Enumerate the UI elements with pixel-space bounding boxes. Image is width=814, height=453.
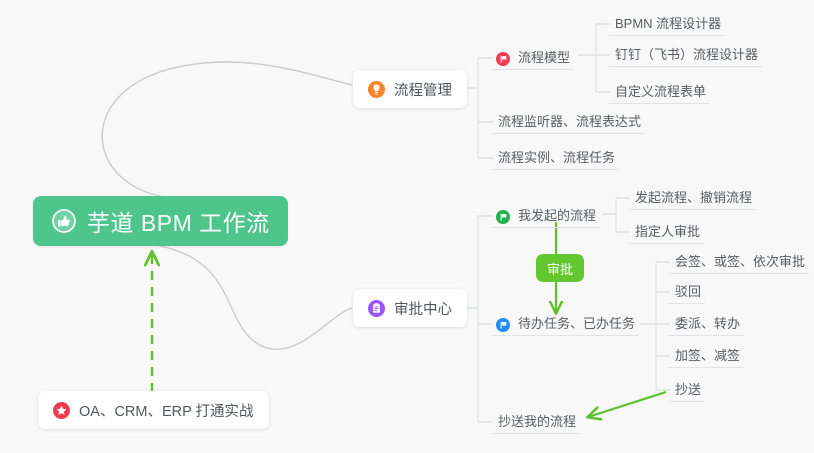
- leaf-label-todo-done-task: 待办任务、已办任务: [518, 313, 635, 332]
- leaf-node-countersign-orsign-sequential[interactable]: 会签、或签、依次审批: [669, 246, 809, 274]
- leaf-node-bpmn-designer[interactable]: BPMN 流程设计器: [609, 8, 725, 36]
- leaf-node-listener-expression[interactable]: 流程监听器、流程表达式: [492, 106, 645, 134]
- root-node-label: 芋道 BPM 工作流: [87, 204, 270, 238]
- footnote-node[interactable]: OA、CRM、ERP 打通实战: [38, 391, 269, 429]
- leaf-label-countersign-orsign-sequential: 会签、或签、依次审批: [675, 251, 805, 270]
- annotation-chip-approval[interactable]: 审批: [536, 254, 584, 282]
- clipboard-circle-icon: [368, 300, 385, 317]
- leaf-node-carbon-copy[interactable]: 抄送: [669, 374, 705, 402]
- leaf-label-add-remove-sign: 加签、减签: [675, 345, 740, 364]
- leaf-label-listener-expression: 流程监听器、流程表达式: [498, 111, 641, 130]
- root-node[interactable]: 芋道 BPM 工作流: [33, 196, 288, 246]
- leaf-label-cc-to-me-process: 抄送我的流程: [498, 411, 576, 430]
- leaf-node-delegate-transfer[interactable]: 委派、转办: [669, 308, 744, 336]
- leaf-node-reject[interactable]: 驳回: [669, 276, 705, 304]
- leaf-node-instance-task[interactable]: 流程实例、流程任务: [492, 142, 619, 170]
- leaf-label-process-model: 流程模型: [518, 47, 570, 66]
- wires-process-management-children: [462, 58, 494, 158]
- branch-node-process-management[interactable]: 流程管理: [353, 70, 467, 108]
- wires-todo-done-task-children: [640, 262, 670, 390]
- leaf-label-custom-process-form: 自定义流程表单: [615, 81, 706, 100]
- leaf-node-dingtalk-feishu-designer[interactable]: 钉钉（飞书）流程设计器: [609, 39, 762, 67]
- leaf-node-cc-to-me-process[interactable]: 抄送我的流程: [492, 406, 580, 434]
- wire-root-to-approval-center: [160, 246, 352, 349]
- leaf-label-bpmn-designer: BPMN 流程设计器: [615, 13, 721, 32]
- flag-circle-icon: [496, 210, 510, 224]
- leaf-node-assignee-approval[interactable]: 指定人审批: [629, 216, 704, 244]
- flag-circle-icon: [496, 52, 510, 66]
- branch-label-approval-center: 审批中心: [394, 298, 452, 319]
- leaf-label-my-started-process: 我发起的流程: [518, 205, 596, 224]
- lightbulb-circle-icon: [368, 81, 385, 98]
- leaf-node-process-model[interactable]: 流程模型: [492, 42, 574, 70]
- leaf-node-todo-done-task[interactable]: 待办任务、已办任务: [492, 308, 639, 336]
- leaf-label-assignee-approval: 指定人审批: [635, 221, 700, 240]
- leaf-node-start-cancel-process[interactable]: 发起流程、撤销流程: [629, 182, 756, 210]
- wires-process-model-children: [578, 24, 610, 92]
- leaf-node-my-started-process[interactable]: 我发起的流程: [492, 200, 600, 228]
- leaf-label-reject: 驳回: [675, 281, 701, 300]
- leaf-node-custom-process-form[interactable]: 自定义流程表单: [609, 76, 710, 104]
- thumbs-up-circle-icon: [51, 208, 77, 234]
- mindmap-canvas: 芋道 BPM 工作流 OA、CRM、ERP 打通实战 流程管理: [0, 0, 814, 453]
- leaf-label-instance-task: 流程实例、流程任务: [498, 147, 615, 166]
- footnote-label: OA、CRM、ERP 打通实战: [79, 400, 254, 421]
- leaf-label-dingtalk-feishu-designer: 钉钉（飞书）流程设计器: [615, 44, 758, 63]
- wires-my-started-process-children: [602, 198, 630, 232]
- leaf-node-add-remove-sign[interactable]: 加签、减签: [669, 340, 744, 368]
- flag-circle-icon: [496, 318, 510, 332]
- star-circle-icon: [53, 402, 70, 419]
- leaf-label-carbon-copy: 抄送: [675, 379, 701, 398]
- annotation-chip-approval-label: 审批: [547, 259, 573, 278]
- annotation-cc-arrow: [588, 392, 666, 417]
- branch-node-approval-center[interactable]: 审批中心: [353, 289, 467, 327]
- wire-root-to-process-management: [102, 62, 352, 196]
- leaf-label-delegate-transfer: 委派、转办: [675, 313, 740, 332]
- branch-label-process-management: 流程管理: [394, 79, 452, 100]
- leaf-label-start-cancel-process: 发起流程、撤销流程: [635, 187, 752, 206]
